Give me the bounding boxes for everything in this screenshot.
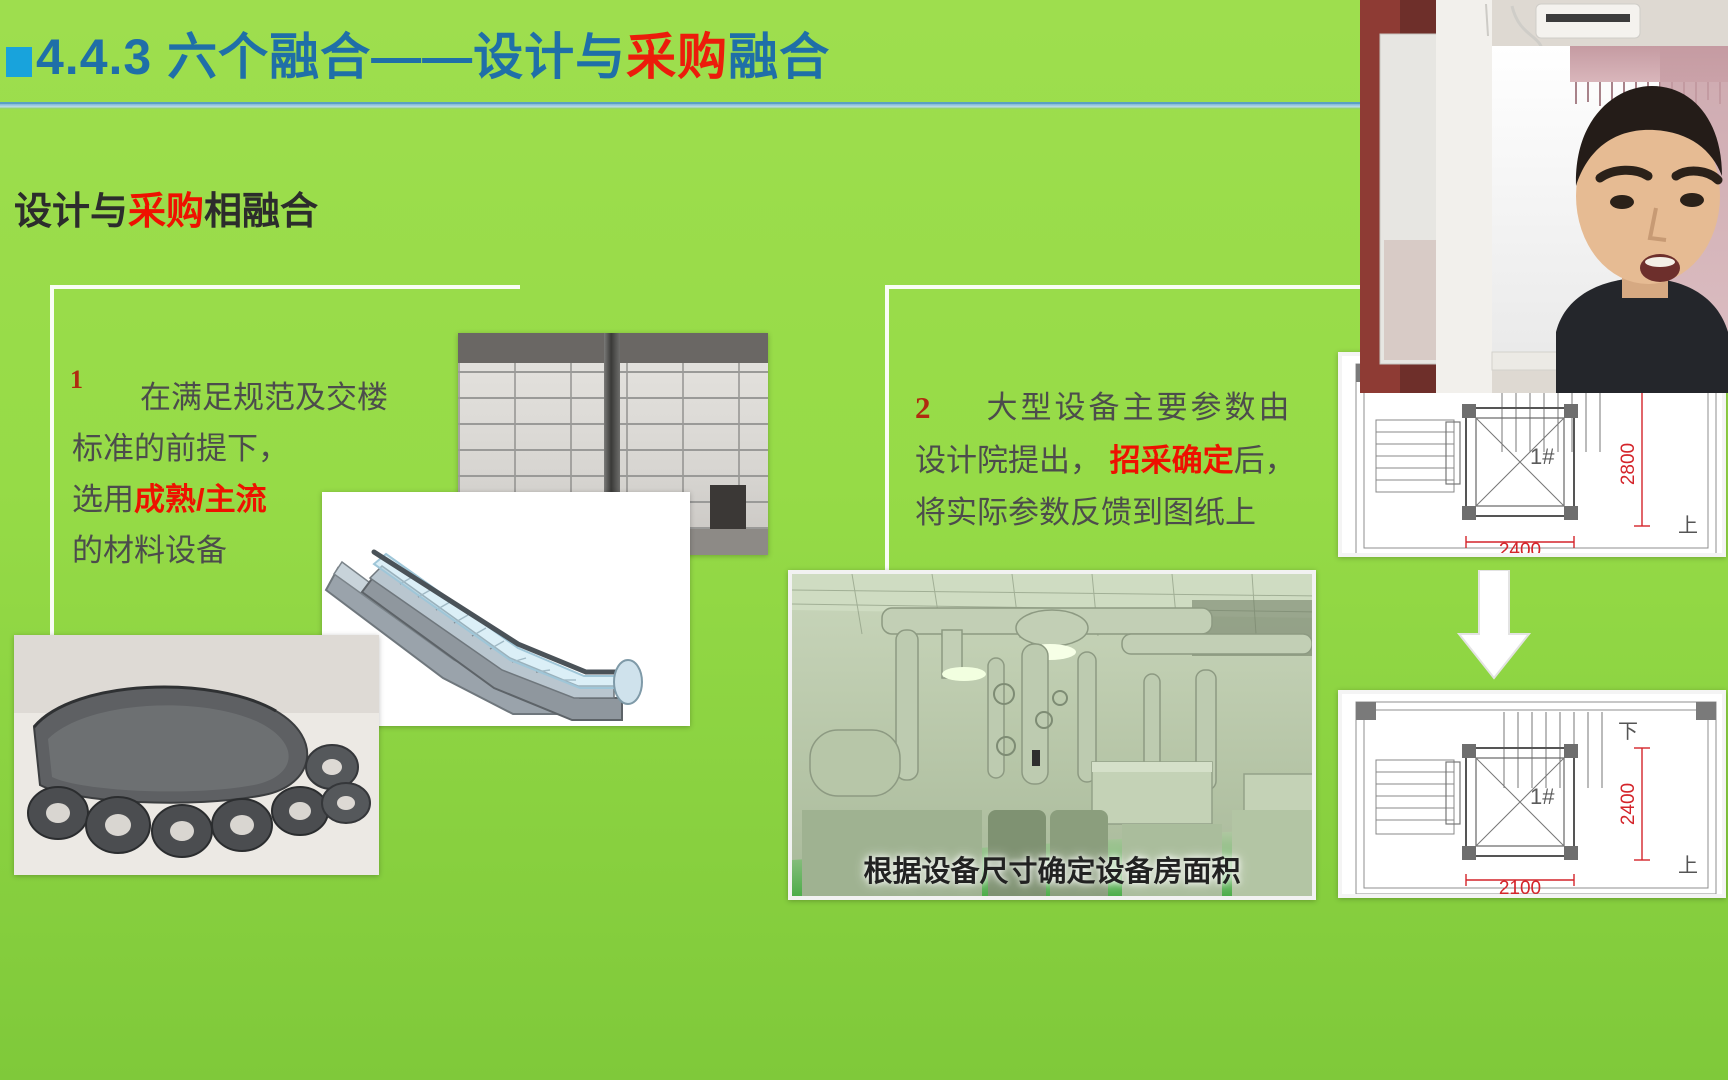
cad-bottom-stair-direction-up: 上: [1678, 854, 1698, 877]
subtitle-suffix: 相融合: [204, 191, 318, 233]
cad-bottom-stair-direction-down: 下: [1618, 721, 1638, 743]
webcam-frame: [1360, 0, 1728, 393]
right-line-2-prefix: 设计院提出，: [915, 443, 1101, 478]
left-line-3-highlight: 成熟/主流: [134, 482, 267, 517]
right-line-2-highlight: 招采确定: [1110, 443, 1234, 478]
elevator-core-floor-plan-bottom: 下 1# 2400: [1338, 690, 1726, 898]
title-underline-rule: [0, 102, 1360, 109]
title-bullet-square: [6, 47, 32, 77]
cad-top-car-label: 1#: [1530, 444, 1555, 469]
right-line-3: 将实际参数反馈到图纸上: [915, 495, 1256, 530]
equipment-room-3d-render: . 根据设备尺寸确定设备房面积: [788, 570, 1316, 900]
subtitle-highlight: 采购: [128, 191, 204, 233]
slide-title-bar: 4.4.3 六个融合——设计与采购融合: [0, 10, 1360, 100]
section-subtitle: 设计与采购相融合: [14, 180, 318, 235]
cad-top-stair-direction: 上: [1678, 514, 1698, 537]
presenter-webcam-feed[interactable]: [1360, 0, 1728, 393]
down-arrow-icon: [1455, 570, 1533, 680]
right-line-1: 大型设备主要参数由: [987, 390, 1293, 425]
left-line-1: 在满足规范及交楼: [140, 380, 388, 415]
subtitle-prefix: 设计与: [14, 191, 128, 233]
title-highlight: 采购: [626, 29, 728, 85]
slide-canvas: 4.4.3 六个融合——设计与采购融合 设计与采购相融合 1 在满足规范及交楼 …: [0, 0, 1728, 1080]
page-title: 4.4.3 六个融合——设计与采购融合: [36, 30, 830, 85]
left-line-3-prefix: 选用: [72, 482, 134, 517]
right-item-number: 2: [915, 390, 931, 425]
equipment-room-caption: 根据设备尺寸确定设备房面积: [792, 848, 1312, 890]
title-suffix: 融合: [728, 29, 830, 85]
right-line-2-suffix: 后，: [1234, 443, 1296, 478]
cad-bottom-vertical-dim: 2400: [1618, 783, 1639, 825]
rubber-foam-pipe-insulation-photo: [14, 635, 379, 875]
left-line-2: 标准的前提下，: [72, 431, 289, 466]
left-line-4: 的材料设备: [72, 533, 227, 568]
cad-plan-bottom: 下 1# 2400: [1342, 694, 1726, 898]
cad-top-horizontal-dim: 2400: [1499, 540, 1541, 557]
cad-top-vertical-dim: 2800: [1618, 443, 1639, 485]
cad-bottom-car-label: 1#: [1530, 784, 1555, 809]
brick-opening: [710, 485, 746, 529]
pipe-rolls-illustration: [14, 635, 379, 875]
cad-bottom-horizontal-dim: 2100: [1499, 878, 1541, 898]
right-item-text: 2大型设备主要参数由 设计院提出， 招采确定后， 将实际参数反馈到图纸上: [915, 382, 1335, 540]
title-prefix: 4.4.3 六个融合——设计与: [36, 29, 626, 85]
